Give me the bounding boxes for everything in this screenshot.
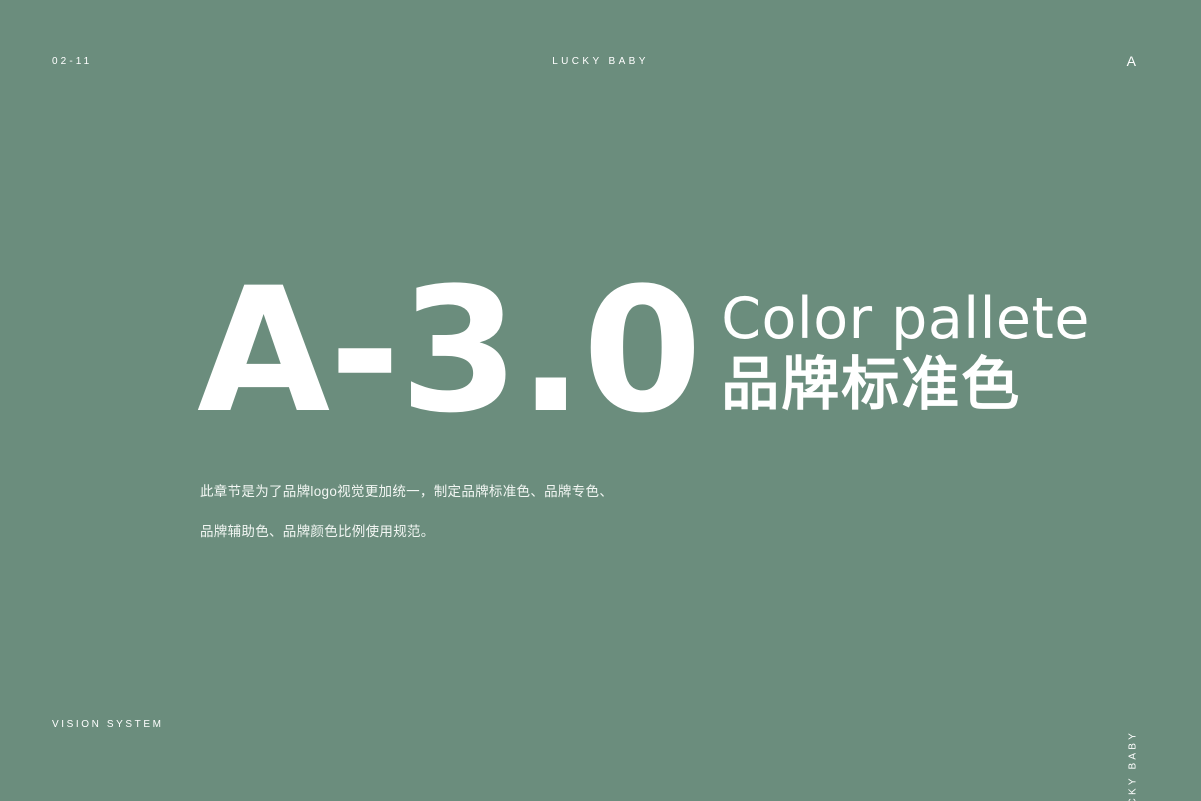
side-brand-label: LUCKY BABY	[1129, 730, 1139, 801]
presentation-slide: 02-11 LUCKY BABY A A-3.0 Color pallete 品…	[0, 0, 1201, 801]
description-line: 品牌辅助色、品牌颜色比例使用规范。	[200, 523, 720, 541]
section-mark: A	[1127, 54, 1137, 68]
section-title-chinese: 品牌标准色	[721, 354, 1090, 415]
description-line: 此章节是为了品牌logo视觉更加统一，制定品牌标准色、品牌专色、	[200, 483, 720, 501]
section-code: A-3.0	[197, 277, 701, 425]
section-description: 此章节是为了品牌logo视觉更加统一，制定品牌标准色、品牌专色、 品牌辅助色、品…	[200, 483, 720, 541]
header-brand-label: LUCKY BABY	[0, 57, 1201, 67]
section-title-english: Color pallete	[721, 291, 1090, 348]
hero-title-block: A-3.0 Color pallete 品牌标准色	[197, 277, 1090, 425]
footer-label: VISION SYSTEM	[52, 720, 164, 730]
hero-title-group: Color pallete 品牌标准色	[721, 277, 1090, 415]
